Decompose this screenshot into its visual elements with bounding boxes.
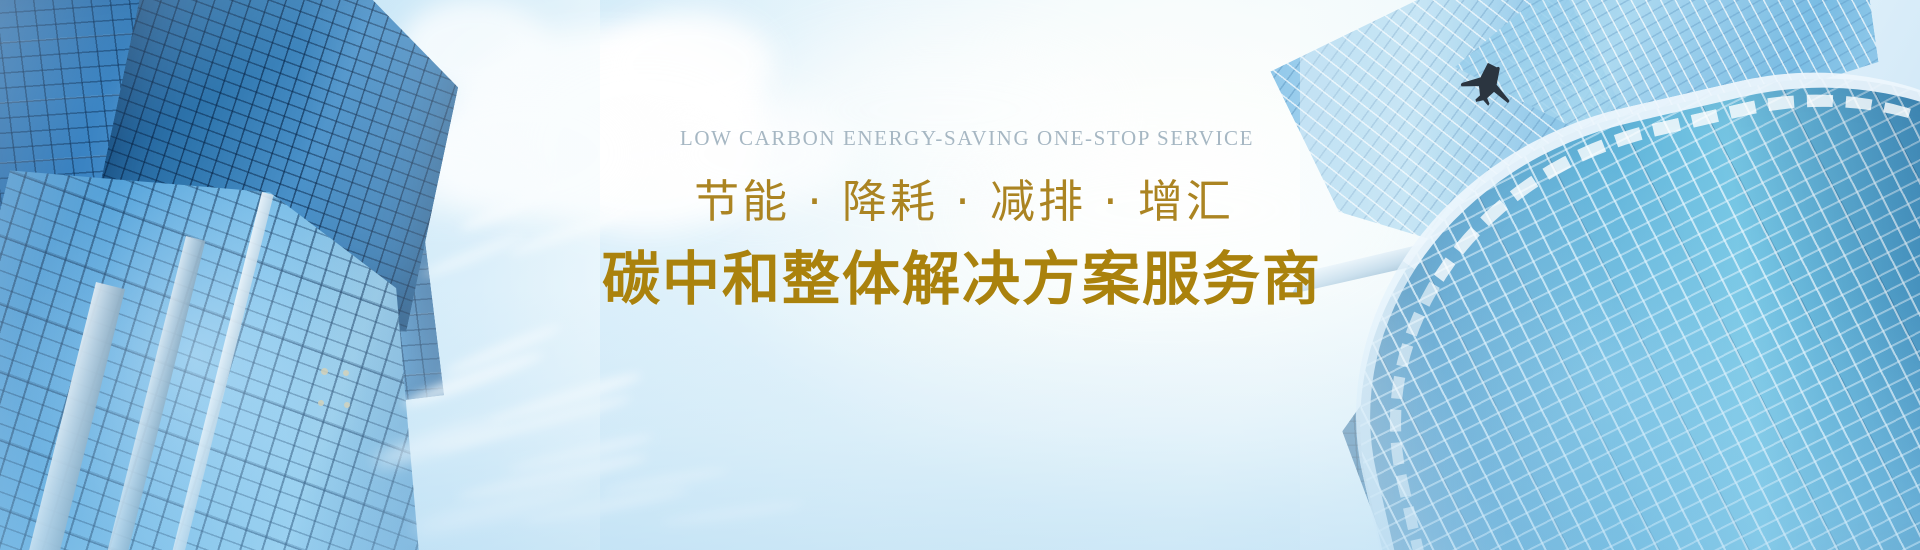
sky-bottom-tint (0, 290, 1920, 550)
hero-banner: LOW CARBON ENERGY-SAVING ONE-STOP SERVIC… (0, 0, 1920, 550)
hero-copy-block: LOW CARBON ENERGY-SAVING ONE-STOP SERVIC… (0, 128, 1920, 308)
tagline-english: LOW CARBON ENERGY-SAVING ONE-STOP SERVIC… (7, 128, 1920, 149)
headline-chinese: 碳中和整体解决方案服务商 (2, 250, 1920, 308)
tagline-chinese: 节能 · 降耗 · 减排 · 增汇 (4, 179, 1920, 224)
